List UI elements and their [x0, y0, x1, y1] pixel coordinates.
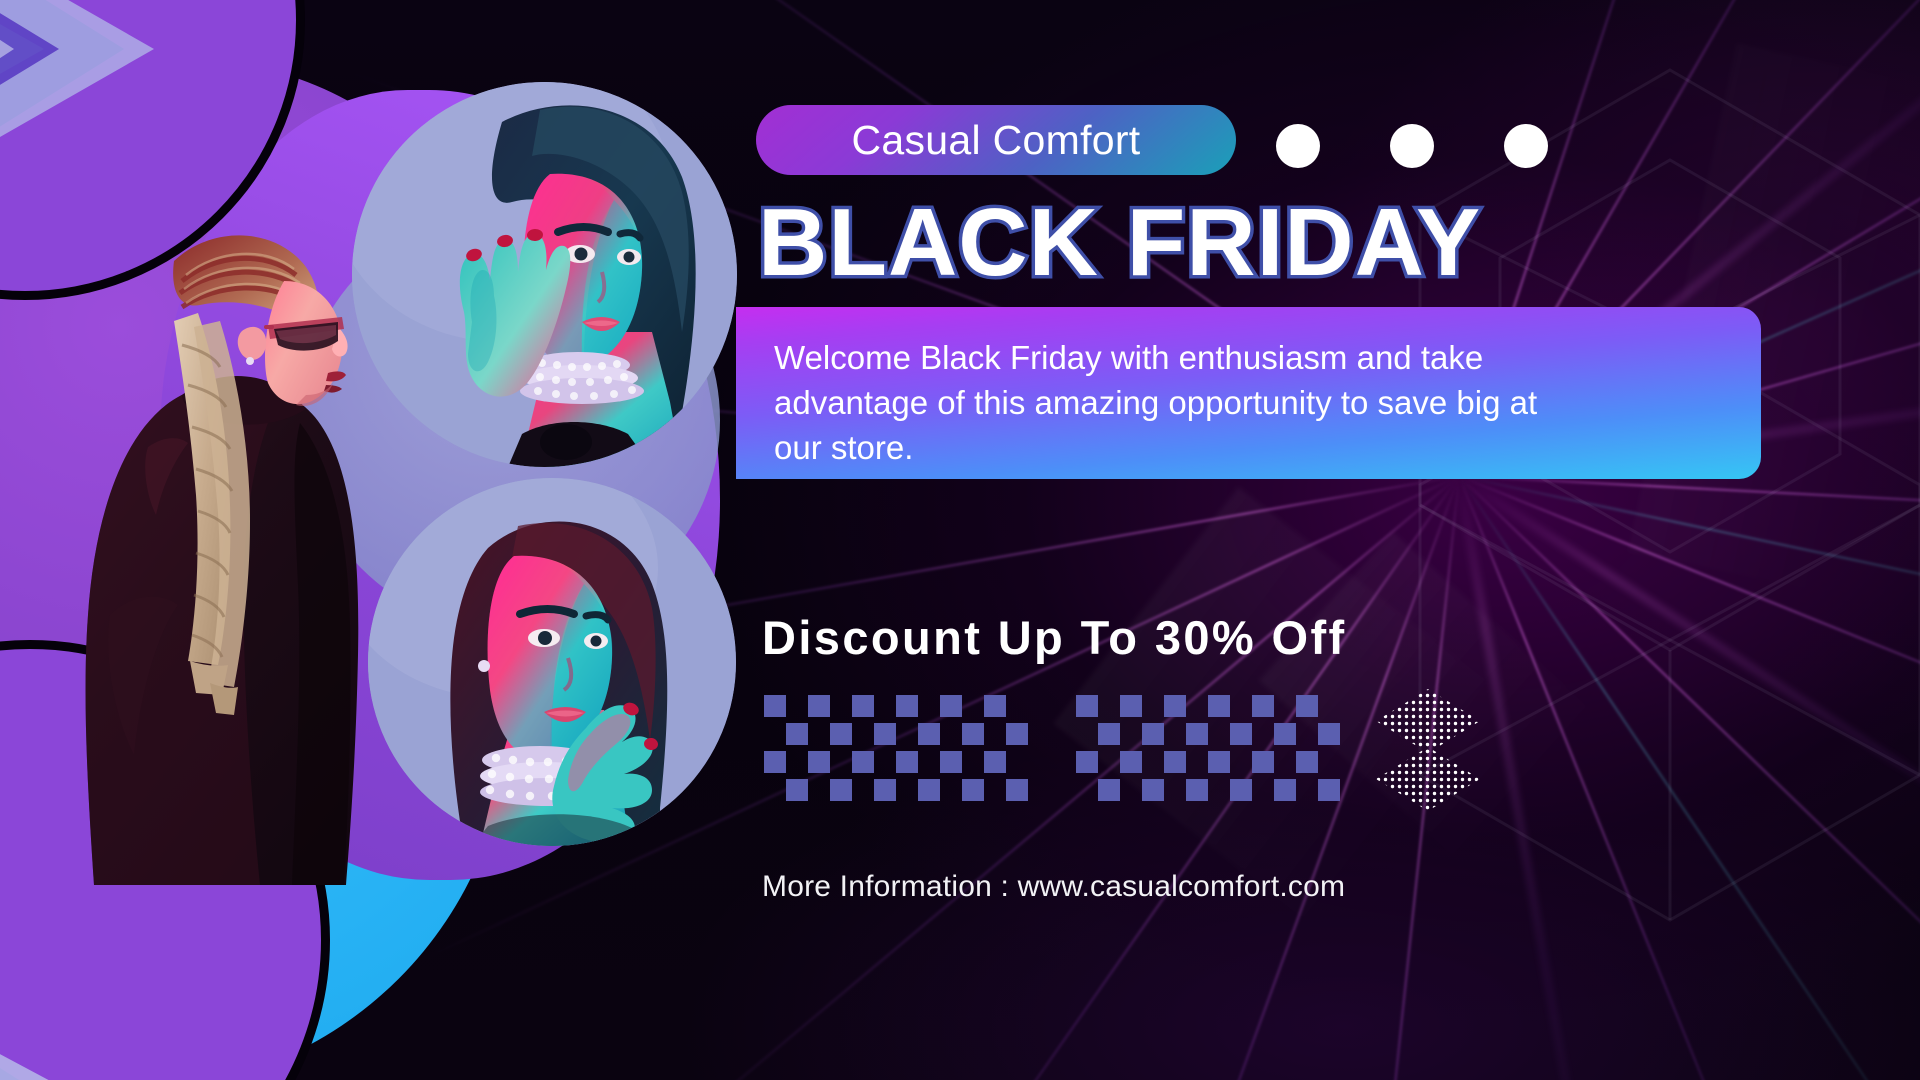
promo-message-panel: Welcome Black Friday with enthusiasm and… — [736, 307, 1761, 479]
white-dot-icon — [1390, 124, 1434, 168]
dot-decoration-group — [1276, 124, 1548, 168]
brand-badge-label: Casual Comfort — [851, 117, 1140, 164]
discount-headline: Discount Up To 30% Off — [762, 610, 1347, 665]
white-dot-icon — [1504, 124, 1548, 168]
white-dot-icon — [1276, 124, 1320, 168]
content-column: Casual Comfort BLACK FRIDAY Welcome Blac… — [756, 0, 1920, 1080]
footer-contact-info: More Information : www.casualcomfort.com — [762, 870, 1345, 904]
checkerboard-pattern-icon — [1076, 695, 1341, 803]
chevron-arrow-icon — [0, 0, 254, 219]
dotted-diamond-decoration — [1368, 685, 1488, 815]
promo-message-text: Welcome Black Friday with enthusiasm and… — [774, 335, 1574, 471]
page-title: BLACK FRIDAY — [758, 188, 1758, 298]
checkerboard-pattern-icon — [764, 695, 1029, 803]
checkerboard-decoration-group — [764, 695, 1341, 803]
brand-badge: Casual Comfort — [756, 105, 1236, 175]
chevron-arrow-icon — [0, 939, 189, 1080]
dotted-diamond-icon — [1368, 743, 1488, 815]
dotted-diamond-icon — [1368, 685, 1488, 755]
black-friday-promo-banner: Casual Comfort BLACK FRIDAY Welcome Blac… — [0, 0, 1920, 1080]
model-hoodie-side — [70, 195, 430, 885]
